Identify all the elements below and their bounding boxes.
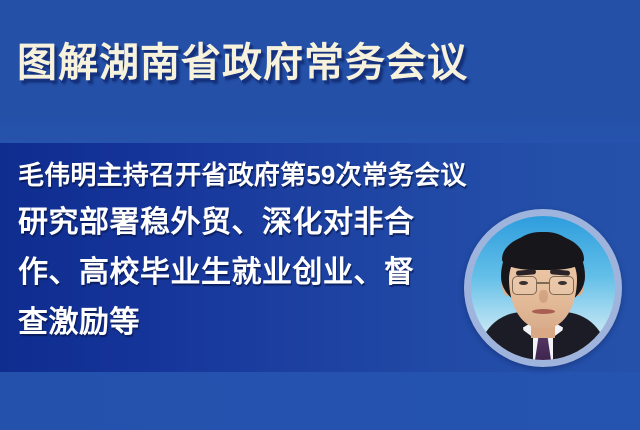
portrait-fringe — [502, 234, 584, 270]
body-line-4: 查激励等 — [18, 298, 448, 348]
infographic-poster: 图解湖南省政府常务会议 毛伟明主持召开省政府第59次常务会议 研究部署稳外贸、深… — [0, 0, 640, 430]
portrait-photo — [471, 216, 615, 360]
portrait-glasses-lens-left — [512, 276, 537, 295]
portrait-mouth — [532, 309, 555, 314]
body-line-3: 作、高校毕业生就业创业、督 — [18, 248, 448, 298]
page-title: 图解湖南省政府常务会议 — [17, 39, 468, 87]
body-text-block: 毛伟明主持召开省政府第59次常务会议 研究部署稳外贸、深化对非合 作、高校毕业生… — [18, 152, 448, 348]
avatar — [464, 209, 622, 367]
body-line-1: 毛伟明主持召开省政府第59次常务会议 — [18, 152, 448, 198]
body-line-2: 研究部署稳外贸、深化对非合 — [18, 198, 448, 248]
portrait-nose — [539, 290, 548, 303]
background-footer-band — [0, 372, 640, 430]
portrait-glasses-bridge — [537, 282, 549, 284]
portrait-glasses-lens-right — [549, 276, 574, 295]
